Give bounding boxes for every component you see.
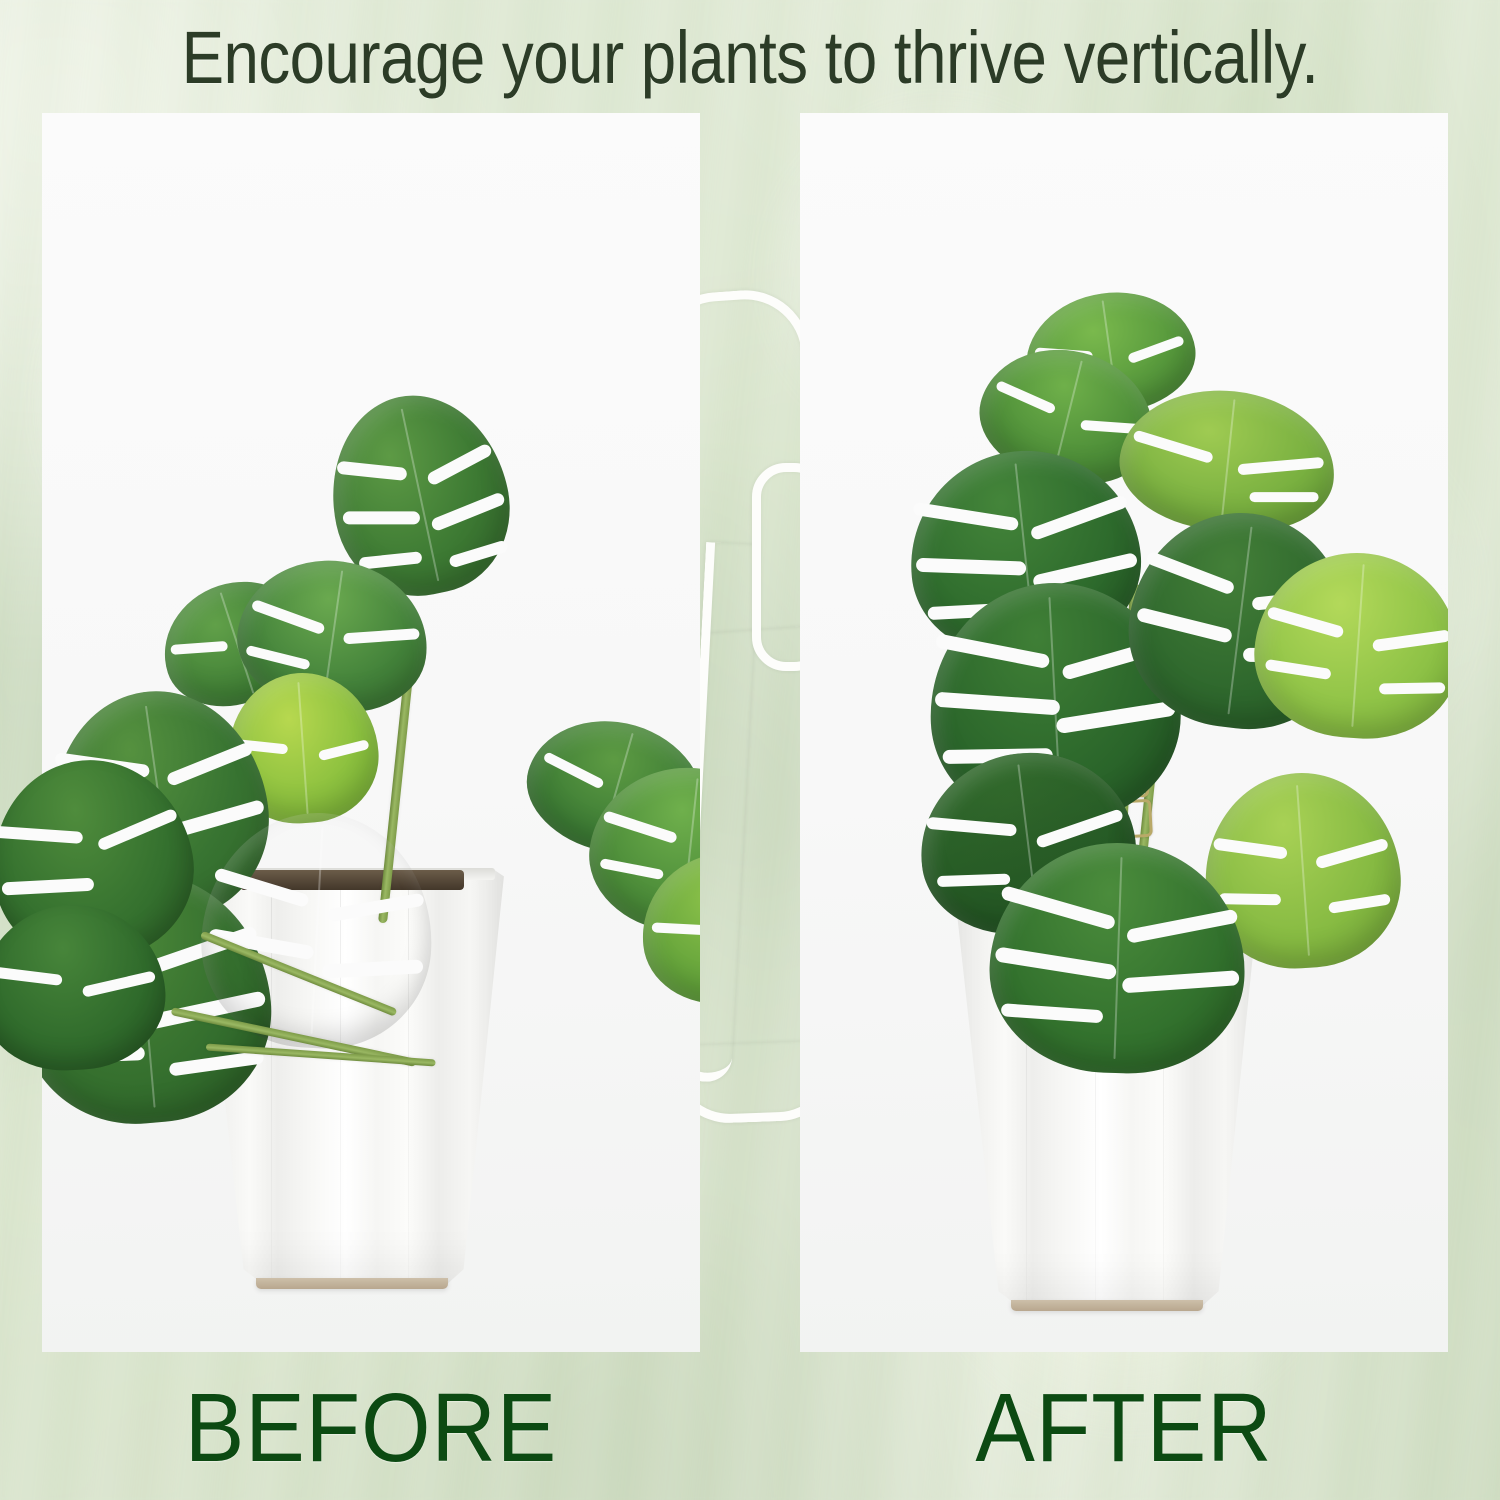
trellis-leg-wire [700,542,759,1083]
leaf-fenestration [343,628,420,644]
leaf-fenestration [1218,893,1281,905]
leaf-fenestration [1328,893,1391,914]
leaf-fenestration [1145,551,1236,596]
leaf-fenestration [448,540,508,569]
leaf-midrib [297,682,308,814]
leaf-fenestration [426,442,494,486]
leaf-fenestration [0,966,63,986]
leaf-fenestration [1132,430,1213,464]
leaf-fenestration [0,826,83,844]
leaf-fenestration [994,380,1056,415]
leaf-fenestration [170,641,228,655]
after-photo-panel [800,113,1448,1352]
captions-row: BEFORE AFTER [0,1368,1500,1486]
leaf-fenestration [1127,335,1185,364]
leaf-fenestration [1126,908,1239,943]
pot-foot [1011,1300,1203,1311]
leaf-fenestration [1000,1003,1103,1023]
leaf-fenestration [934,633,1050,669]
leaf-fenestration [1265,659,1332,680]
leaf-fenestration [343,511,420,524]
leaf-fenestration [1029,494,1129,541]
caption-before: BEFORE [68,1368,673,1486]
leaf-midrib [1351,564,1364,727]
leaf-fenestration [1213,838,1288,860]
after-photo-inner [800,113,1448,1352]
leaf-fenestration [2,878,95,896]
leaf-midrib [311,827,324,1034]
trellis-loop-wire [752,463,800,671]
leaf-midrib [1220,400,1235,523]
before-photo-panel [42,113,700,1352]
before-photo-inner [42,113,700,1352]
leaf-fenestration [168,1051,264,1077]
leaf-fenestration [1379,682,1445,694]
leaf-fenestration [542,751,604,789]
leaf-fenestration [430,491,506,532]
leaf-fenestration [246,645,311,670]
leaf-fenestration [250,599,325,635]
trellis-lower-wire [700,1040,800,1125]
leaf-fenestration [994,946,1117,980]
leaf-fenestration [318,739,370,761]
leaf-fenestration [81,970,156,997]
leaf-fenestration [1315,838,1390,870]
leaf-fenestration [214,867,310,908]
leaf-fenestration [166,741,255,787]
caption-after: AFTER [826,1368,1422,1486]
leaf-fenestration [1055,700,1176,734]
leaf-fenestration [1000,885,1117,931]
leaf-fenestration [96,808,178,852]
leaf-fenestration [915,557,1026,575]
leaf-fenestration [1238,457,1325,475]
headline-text: Encourage your plants to thrive vertical… [105,10,1395,106]
leaf-fenestration [935,692,1061,716]
leaf-fenestration [937,874,1010,888]
leaf-fenestration [336,461,407,481]
leaf-fenestration [599,858,664,880]
leaf-fenestration [912,502,1019,531]
leaf-fenestration [322,959,424,978]
leaf-fenestration [1267,605,1345,638]
leaf-fenestration [1250,492,1319,502]
leaf-fenestration [1135,607,1232,644]
leaf-fenestration [652,922,700,935]
leaf-fenestration [327,892,424,922]
leaf-fenestration [602,811,678,845]
leaf-midrib [1296,785,1310,956]
leaf-midrib [1227,526,1252,714]
trellis-overlay [700,113,800,1352]
leaf-fenestration [1121,970,1239,993]
leaf-fenestration [926,817,1017,837]
leaf-midrib [1113,857,1122,1059]
leaf-fenestration [1372,629,1448,652]
leaf-fenestration [359,551,423,570]
pot-foot [256,1278,448,1289]
